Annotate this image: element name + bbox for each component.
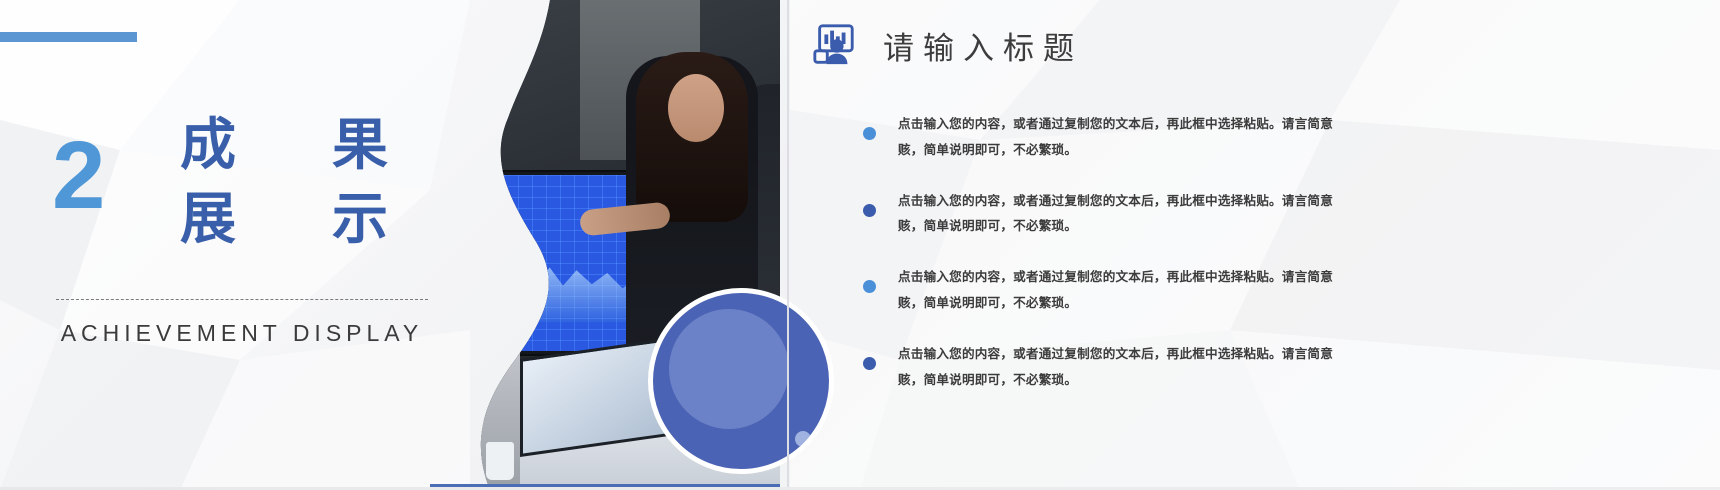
left-title-pane: 2 成 果 展 示 ACHIEVEMENT DISPLAY [0, 0, 470, 490]
list-item-text: 点击输入您的内容，或者通过复制您的文本后，再此框中选择粘贴。请言简意赅，简单说明… [898, 112, 1354, 164]
title-divider [56, 299, 428, 300]
list-item[interactable]: 点击输入您的内容，或者通过复制您的文本后，再此框中选择粘贴。请言简意赅，简单说明… [844, 112, 1354, 164]
list-item[interactable]: 点击输入您的内容，或者通过复制您的文本后，再此框中选择粘贴。请言简意赅，简单说明… [844, 265, 1354, 317]
presentation-person-icon [811, 22, 857, 68]
list-item-text: 点击输入您的内容，或者通过复制您的文本后，再此框中选择粘贴。请言简意赅，简单说明… [898, 189, 1354, 241]
section-number: 2 [52, 128, 105, 224]
chinese-title: 成 果 展 示 [180, 108, 440, 256]
chinese-title-line-2: 展 示 [180, 182, 440, 256]
bullet-dot-icon [863, 127, 876, 140]
bullet-list: 点击输入您的内容，或者通过复制您的文本后，再此框中选择粘贴。请言简意赅，简单说明… [844, 112, 1354, 419]
photo-person-face [668, 74, 724, 142]
bullet-dot-icon [863, 280, 876, 293]
english-title: ACHIEVEMENT DISPLAY [56, 320, 428, 347]
accent-bar [0, 32, 137, 42]
right-content-pane: 请输入标题 点击输入您的内容，或者通过复制您的文本后，再此框中选择粘贴。请言简意… [789, 0, 1720, 490]
list-item[interactable]: 点击输入您的内容，或者通过复制您的文本后，再此框中选择粘贴。请言简意赅，简单说明… [844, 189, 1354, 241]
photo-cup [486, 442, 514, 480]
list-item-text: 点击输入您的内容，或者通过复制您的文本后，再此框中选择粘贴。请言简意赅，简单说明… [898, 265, 1354, 317]
slide-canvas: 2 成 果 展 示 ACHIEVEMENT DISPLAY [0, 0, 1720, 490]
list-item-text: 点击输入您的内容，或者通过复制您的文本后，再此框中选择粘贴。请言简意赅，简单说明… [898, 342, 1354, 394]
bullet-dot-icon [863, 204, 876, 217]
bullet-dot-icon [863, 357, 876, 370]
list-item[interactable]: 点击输入您的内容，或者通过复制您的文本后，再此框中选择粘贴。请言简意赅，简单说明… [844, 342, 1354, 394]
chinese-title-line-1: 成 果 [180, 108, 440, 182]
heading-row: 请输入标题 [811, 22, 1083, 68]
decorative-circle-highlight [669, 309, 789, 429]
page-title: 请输入标题 [883, 23, 1083, 68]
